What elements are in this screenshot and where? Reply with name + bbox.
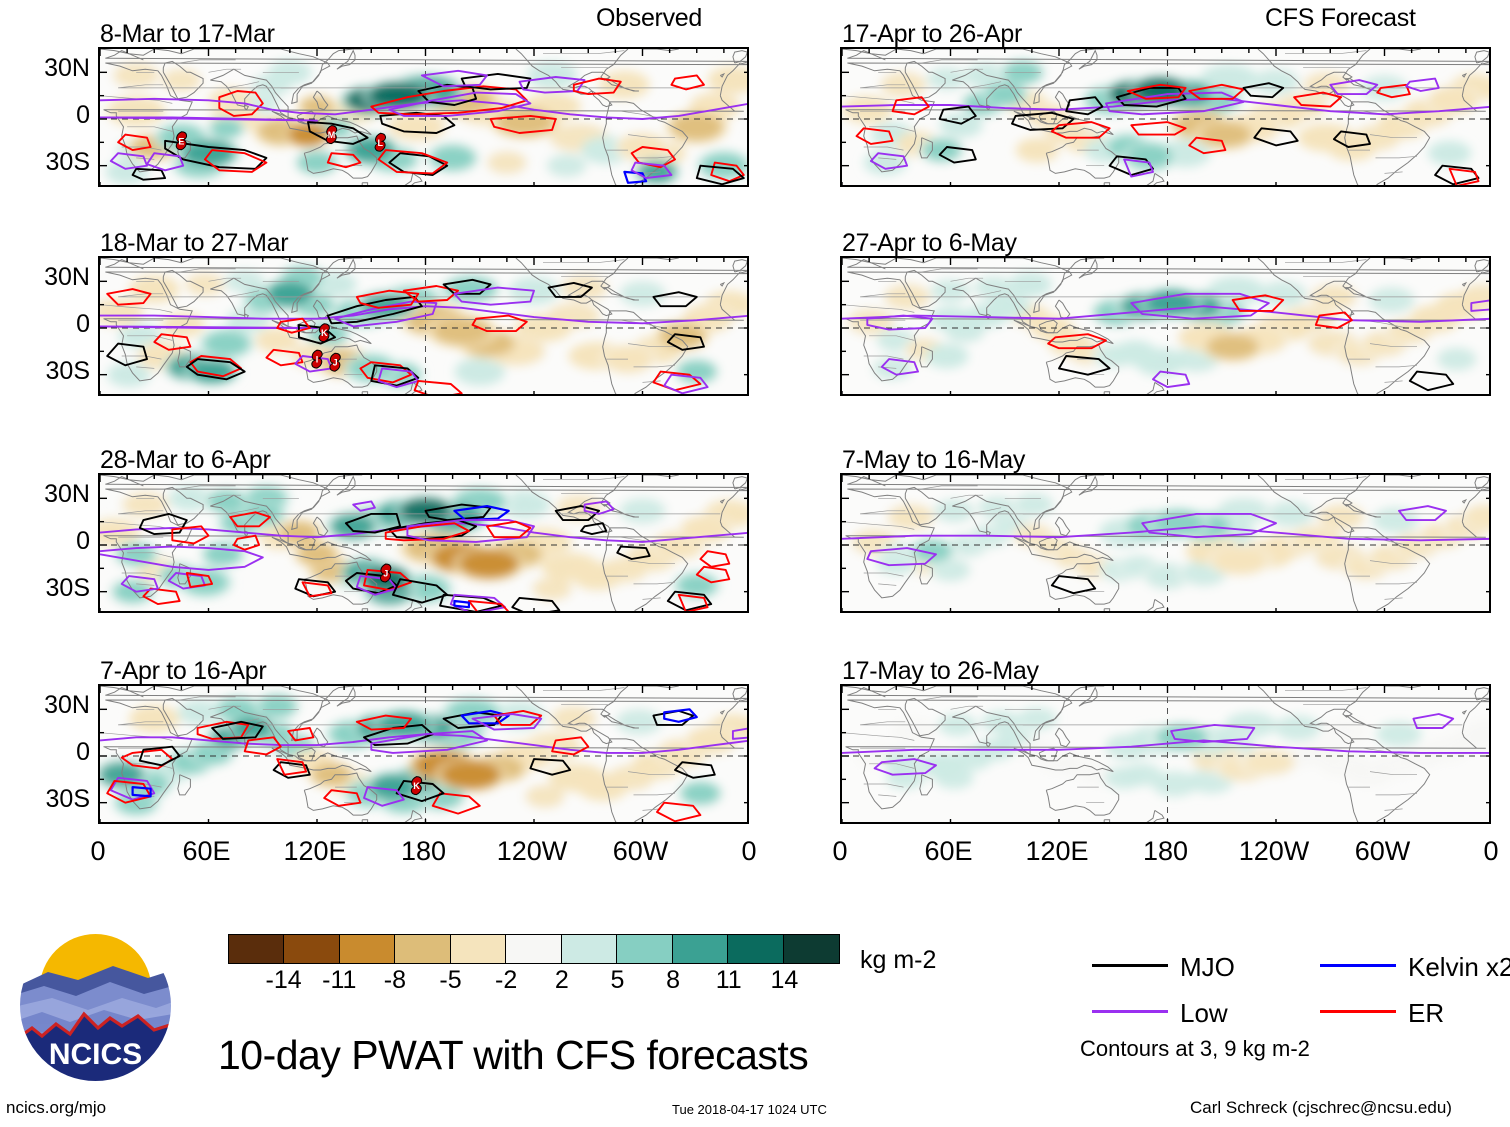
page-title: 10-day PWAT with CFS forecasts [218,1032,808,1079]
colorbar [228,934,840,964]
panel-title-obs-2: 18-Mar to 27-Mar [100,229,288,258]
map-fcst-4[interactable] [840,684,1491,824]
legend-swatch-line [1092,964,1168,967]
y-tick-30n: 30N [0,480,90,509]
ncics-logo: NCICS [18,928,173,1083]
contour-note: Contours at 3, 9 kg m-2 [1080,1036,1310,1062]
legend-item-low: Low [1092,998,1312,1030]
cyclone-label: L [378,138,384,148]
cyclone-symbol: K [411,777,421,795]
y-tick-30s: 30S [0,148,90,177]
x-tick-0: 0 [1441,836,1510,867]
legend-label: Low [1180,998,1228,1029]
panel-obs-1: 8-Mar to 17-MarEML [98,47,749,187]
colorbar-segment [617,935,672,963]
x-tick-0: 0 [699,836,799,867]
y-tick-30s: 30S [0,785,90,814]
map-obs-3[interactable]: J [98,473,749,613]
map-canvas: KIJ [100,258,749,396]
cyclone-label: I [316,355,319,365]
x-tick-120e: 120E [265,836,365,867]
panel-obs-2: 18-Mar to 27-MarKIJ [98,256,749,396]
cyclone-symbol: I [312,350,322,368]
y-tick-30n: 30N [0,691,90,720]
footer-timestamp: Tue 2018-04-17 1024 UTC [672,1102,827,1117]
legend-swatch-line [1320,964,1396,967]
panel-title-obs-4: 7-Apr to 16-Apr [100,657,266,686]
colorbar-segment [284,935,339,963]
panel-title-fcst-2: 27-Apr to 6-May [842,229,1017,258]
legend-label: MJO [1180,952,1235,983]
footer-author: Carl Schreck (cjschrec@ncsu.edu) [1190,1098,1452,1118]
legend-label: Kelvin x2 [1408,952,1510,983]
y-tick-0: 0 [0,101,90,130]
x-tick-60e: 60E [899,836,999,867]
map-canvas: J [100,475,749,613]
y-tick-0: 0 [0,527,90,556]
cyclone-label: K [413,781,420,791]
y-tick-30s: 30S [0,357,90,386]
colorbar-swatches [228,934,840,964]
legend-item-kelvin-x2: Kelvin x2 [1320,952,1510,984]
map-obs-1[interactable]: EML [98,47,749,187]
footer-site-link[interactable]: ncics.org/mjo [6,1098,106,1118]
colorbar-segment [506,935,561,963]
legend-label: ER [1408,998,1444,1029]
map-fcst-3[interactable] [840,473,1491,613]
map-canvas [842,49,1491,187]
map-fcst-1[interactable] [840,47,1491,187]
map-canvas [842,475,1491,613]
legend-item-er: ER [1320,998,1510,1030]
colorbar-segment [229,935,284,963]
panel-fcst-2: 27-Apr to 6-May [840,256,1491,396]
cyclone-symbol: M [326,126,336,144]
panel-fcst-4: 17-May to 26-May [840,684,1491,824]
x-tick-60w: 60W [591,836,691,867]
storm-symbols: K [411,777,421,795]
cyclone-symbol: J [380,564,390,582]
x-tick-120e: 120E [1007,836,1107,867]
colorbar-segment [673,935,728,963]
y-tick-30s: 30S [0,574,90,603]
colorbar-tick: 14 [744,966,824,995]
panel-obs-4: 7-Apr to 16-AprK [98,684,749,824]
map-canvas: EML [100,49,749,187]
column-header-observed: Observed [596,4,702,33]
map-canvas [842,258,1491,396]
panel-title-fcst-4: 17-May to 26-May [842,657,1039,686]
map-canvas [842,686,1491,824]
cyclone-label: J [333,358,338,368]
colorbar-segment [562,935,617,963]
panel-title-fcst-1: 17-Apr to 26-Apr [842,20,1022,49]
cyclone-symbol: K [319,324,329,342]
colorbar-segment [340,935,395,963]
x-tick-120w: 120W [1224,836,1324,867]
map-obs-2[interactable]: KIJ [98,256,749,396]
cyclone-label: J [383,569,388,579]
cyclone-symbol: E [176,132,186,150]
x-tick-120w: 120W [482,836,582,867]
x-tick-180: 180 [1116,836,1216,867]
x-tick-0: 0 [790,836,890,867]
cyclone-symbol: L [375,133,385,151]
panel-fcst-1: 17-Apr to 26-Apr [840,47,1491,187]
y-tick-30n: 30N [0,54,90,83]
map-fcst-2[interactable] [840,256,1491,396]
colorbar-segment [784,935,839,963]
colorbar-units-label: kg m-2 [860,946,936,975]
map-canvas: K [100,686,749,824]
x-tick-60e: 60E [157,836,257,867]
column-header-cfs-forecast: CFS Forecast [1265,4,1416,33]
panel-obs-3: 28-Mar to 6-AprJ [98,473,749,613]
cyclone-label: M [328,130,336,140]
panel-title-fcst-3: 7-May to 16-May [842,446,1025,475]
svg-text:NCICS: NCICS [49,1038,142,1071]
map-obs-4[interactable]: K [98,684,749,824]
cyclone-label: E [178,136,184,146]
colorbar-segment [395,935,450,963]
panel-title-obs-1: 8-Mar to 17-Mar [100,20,275,49]
colorbar-segment [451,935,506,963]
y-tick-30n: 30N [0,263,90,292]
colorbar-segment [728,935,783,963]
y-tick-0: 0 [0,310,90,339]
cyclone-label: K [321,328,328,338]
legend-swatch-line [1320,1010,1396,1013]
legend-item-mjo: MJO [1092,952,1312,984]
x-tick-0: 0 [48,836,148,867]
panel-fcst-3: 7-May to 16-May [840,473,1491,613]
legend-swatch-line [1092,1010,1168,1013]
y-tick-0: 0 [0,738,90,767]
x-tick-180: 180 [374,836,474,867]
storm-symbols: J [380,564,390,582]
cyclone-symbol: J [330,353,340,371]
x-tick-60w: 60W [1333,836,1433,867]
panel-title-obs-3: 28-Mar to 6-Apr [100,446,271,475]
